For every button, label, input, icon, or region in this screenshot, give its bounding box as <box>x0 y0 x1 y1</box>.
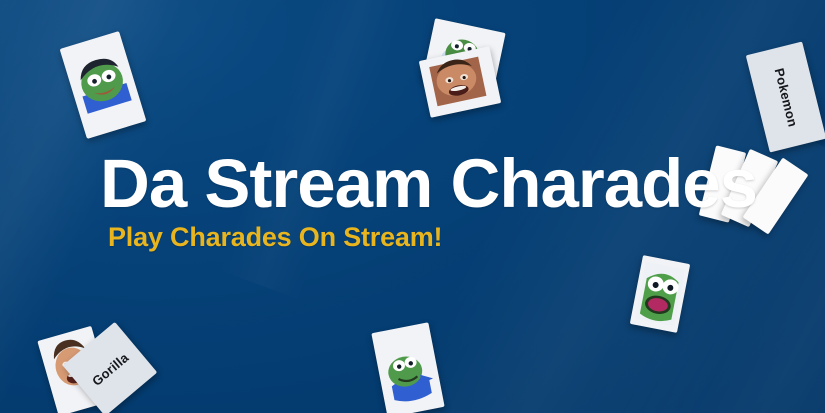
pepe-sunglasses-icon <box>60 31 147 139</box>
card-pokemon-label: Pokemon <box>771 66 800 128</box>
pepe-point-icon <box>371 322 444 413</box>
card-pepe-bottom <box>371 322 444 413</box>
headline-group: Da Stream Charades Play Charades On Stre… <box>100 150 740 253</box>
card-pepe-pog <box>630 255 690 333</box>
card-pokemon: Pokemon <box>746 41 825 152</box>
card-pepe-sunglasses <box>60 31 147 139</box>
pepe-pog-icon <box>630 255 690 333</box>
stream-charades-banner: Pokemon <box>0 0 825 413</box>
page-subtitle: Play Charades On Stream! <box>108 222 740 253</box>
card-gorilla-label: Gorilla <box>89 350 131 389</box>
page-title: Da Stream Charades <box>100 150 740 218</box>
